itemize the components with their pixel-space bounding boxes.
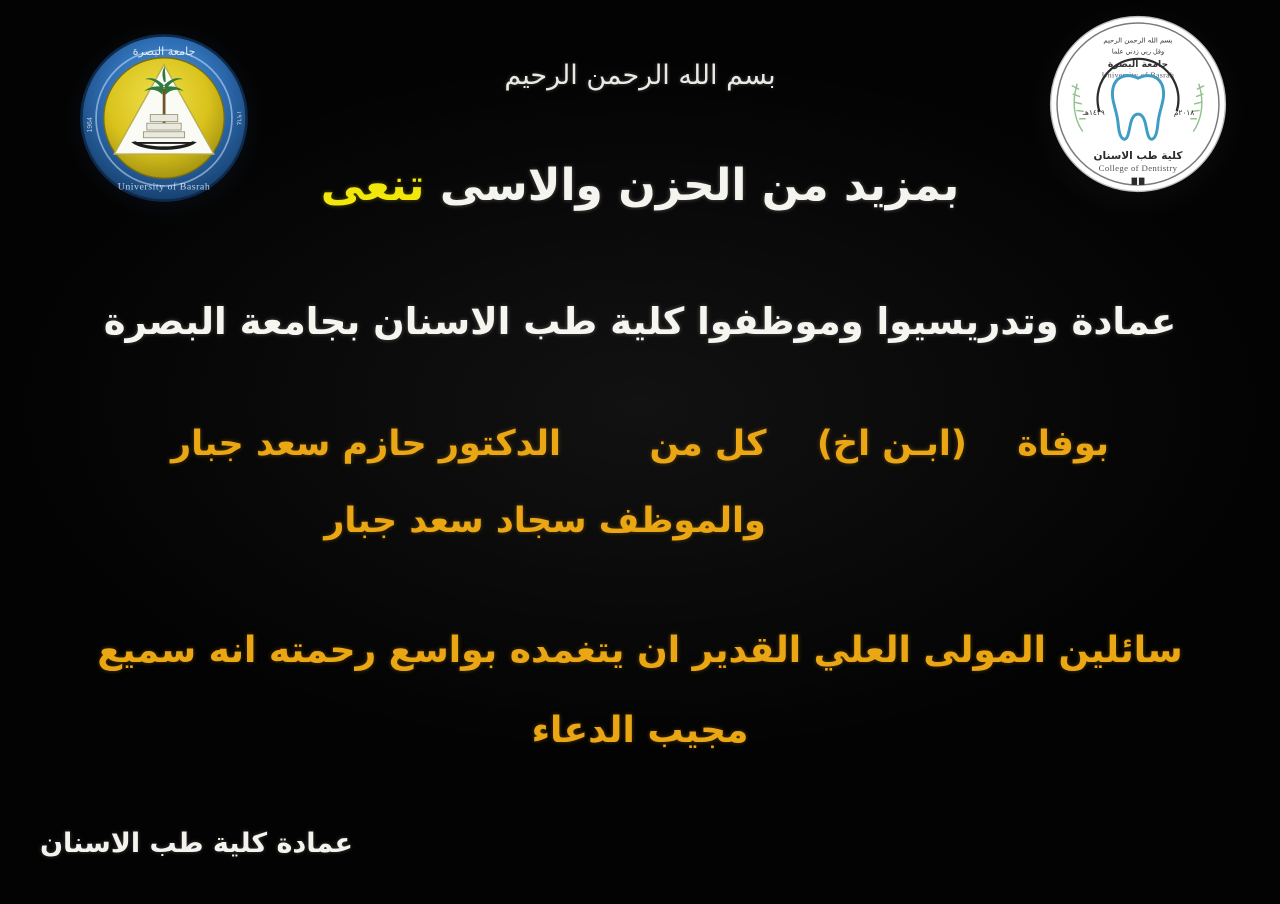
headline-yellow-part: تنعى	[321, 160, 425, 211]
deanship-line: عمادة وتدريسيوا وموظفوا كلية طب الاسنان …	[0, 303, 1280, 340]
footer-signature: عمادة كلية طب الاسنان	[40, 830, 353, 857]
relation-note: (ابـن اخ)	[817, 424, 967, 464]
deceased-name-two: والموظف سجاد سعد جبار	[324, 504, 955, 539]
svg-text:1964: 1964	[87, 117, 94, 132]
svg-text:جامعة البصرة: جامعة البصرة	[133, 45, 196, 59]
deceased-line-one: بوفاة (ابـن اخ) كل من الدكتور حازم سعد ج…	[0, 427, 1280, 462]
death-prefix: بوفاة	[1017, 424, 1109, 464]
deceased-line-two: والموظف سجاد سعد جبار	[0, 504, 1280, 539]
headline-white-part: بمزيد من الحزن والاسى	[440, 160, 959, 211]
svg-text:١٩٦٤: ١٩٦٤	[235, 111, 242, 126]
obituary-poster: جامعة البصرة University of Basrah 1964 ١…	[0, 0, 1280, 904]
prayer-line-two: مجيب الدعاء	[0, 713, 1280, 749]
svg-text:٢٠١٨م: ٢٠١٨م	[1174, 108, 1194, 117]
deceased-name-one: الدكتور حازم سعد جبار	[171, 424, 561, 464]
each-of-label: كل من	[650, 424, 767, 464]
basmala-text: بسم الله الرحمن الرحيم	[0, 62, 1280, 89]
svg-text:كلية طب الاسنان: كلية طب الاسنان	[1094, 150, 1184, 162]
prayer-line-one: سائلين المولى العلي القدير ان يتغمده بوا…	[0, 633, 1280, 669]
svg-text:بسم الله الرحمن الرحيم: بسم الله الرحمن الرحيم	[1103, 36, 1172, 44]
svg-text:وقل ربي زدني علما: وقل ربي زدني علما	[1112, 47, 1164, 55]
headline: بمزيد من الحزن والاسى تنعى	[0, 164, 1280, 208]
svg-text:١٤٣٩هـ: ١٤٣٩هـ	[1082, 108, 1105, 117]
